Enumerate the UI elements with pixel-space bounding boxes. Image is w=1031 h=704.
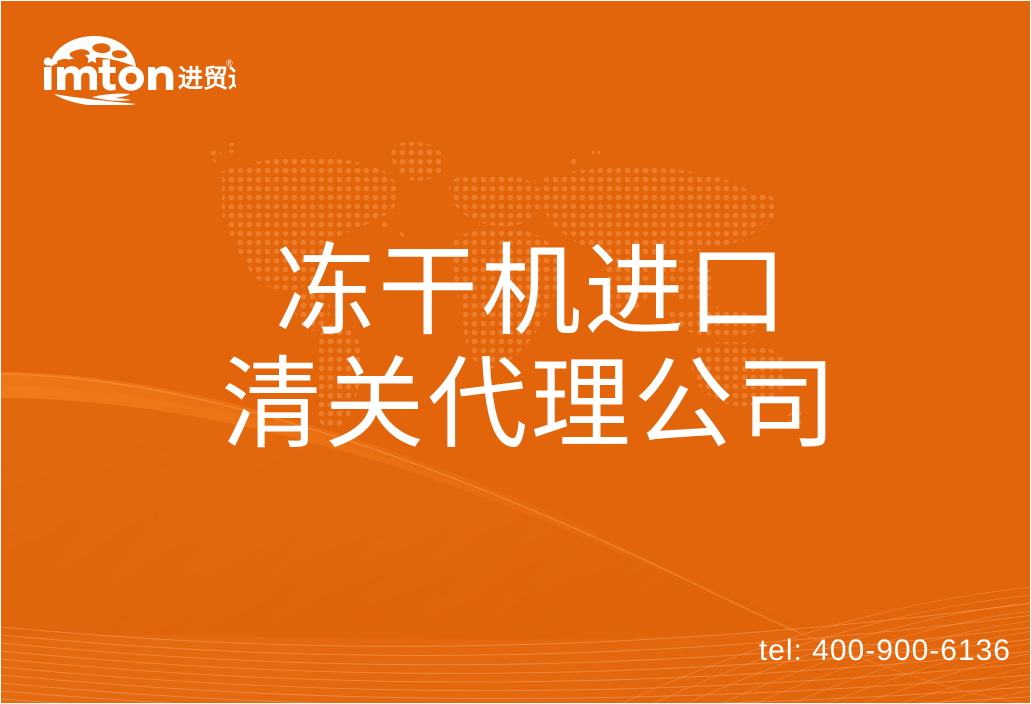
swoosh-icon: [54, 94, 136, 105]
logo-chinese-name: 进贸通: [178, 65, 236, 93]
headline-line-1: 冻干机进口: [0, 236, 1031, 349]
headline-line-2: 清关代理公司: [0, 349, 1031, 462]
globe-icon: [50, 36, 136, 67]
promo-banner: 进贸通 ® 冻干机进口 清关代理公司 tel: 400-900-6136: [0, 0, 1031, 704]
headline-block: 冻干机进口 清关代理公司: [0, 236, 1031, 462]
logo-artwork: 进贸通 ®: [36, 33, 236, 105]
registered-mark: ®: [226, 58, 233, 68]
contact-phone[interactable]: tel: 400-900-6136: [759, 634, 1011, 668]
company-logo[interactable]: 进贸通 ®: [36, 33, 236, 105]
